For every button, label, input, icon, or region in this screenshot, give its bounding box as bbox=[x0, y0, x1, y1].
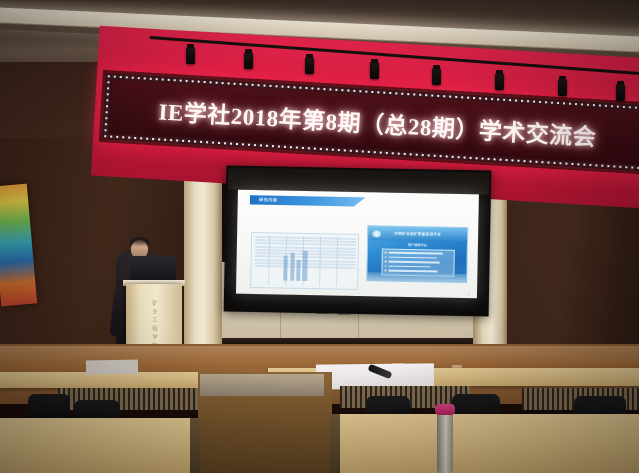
led-banner: IE学社2018年第8期（总28期）学术交流会 bbox=[99, 56, 639, 181]
spotlight-icon bbox=[495, 73, 504, 90]
podium-laptop bbox=[130, 256, 176, 282]
slide-page-number: 8 bbox=[468, 293, 470, 296]
spotlight-icon bbox=[616, 84, 625, 101]
projection-screen: 研究内容 bbox=[224, 165, 492, 316]
spotlight-icon bbox=[432, 68, 441, 85]
slide-title-banner: 研究内容 bbox=[250, 195, 366, 207]
spotlight-icon bbox=[186, 47, 195, 64]
portal-logo-icon bbox=[372, 230, 381, 238]
desk-side-edge bbox=[190, 418, 200, 473]
spotlight-icon bbox=[370, 62, 379, 79]
desk-row-far-left bbox=[0, 372, 200, 388]
desk-side-edge bbox=[330, 414, 340, 473]
paper-sheet bbox=[86, 360, 138, 375]
slide-data-table bbox=[251, 232, 360, 290]
portal-footer bbox=[367, 272, 466, 283]
water-bottle bbox=[437, 411, 453, 473]
spotlight-icon bbox=[558, 79, 567, 96]
desk-row-near-left bbox=[0, 418, 196, 473]
portal-header-text: 中南矿业选矿质量监测平台 bbox=[394, 231, 441, 237]
bottle-cap bbox=[435, 404, 455, 415]
portal-header: 中南矿业选矿质量监测平台 bbox=[368, 226, 467, 242]
desk-row-near-right bbox=[336, 414, 639, 473]
slide-portal-screenshot: 中南矿业选矿质量监测平台 用户登陆平台 bbox=[366, 225, 468, 283]
spotlight-icon bbox=[305, 57, 314, 74]
slide-canvas: 研究内容 bbox=[236, 190, 479, 299]
spotlight-icon bbox=[244, 52, 253, 69]
lecture-hall-photo: IE学社2018年第8期（总28期）学术交流会 研究内容 bbox=[0, 0, 639, 473]
aisle-step bbox=[200, 374, 324, 396]
chair bbox=[28, 394, 70, 420]
slide-title-text: 研究内容 bbox=[259, 197, 277, 203]
